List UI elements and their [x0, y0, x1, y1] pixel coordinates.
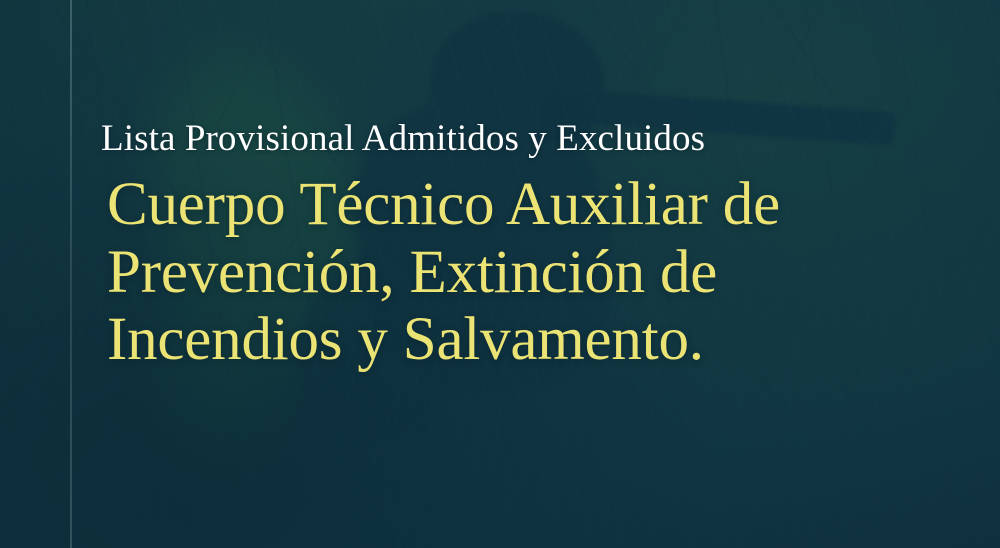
banner-title: Cuerpo Técnico Auxiliar de Prevención, E…: [107, 171, 960, 372]
vertical-seam-line: [70, 0, 72, 548]
banner-title-line-2: Prevención, Extinción de: [107, 239, 960, 306]
banner-title-line-3: Incendios y Salvamento.: [107, 306, 960, 373]
banner-subtitle: Lista Provisional Admitidos y Excluidos: [101, 118, 960, 159]
promotional-banner: Lista Provisional Admitidos y Excluidos …: [0, 0, 1000, 548]
banner-title-line-1: Cuerpo Técnico Auxiliar de: [107, 171, 960, 238]
banner-text-block: Lista Provisional Admitidos y Excluidos …: [101, 118, 960, 373]
